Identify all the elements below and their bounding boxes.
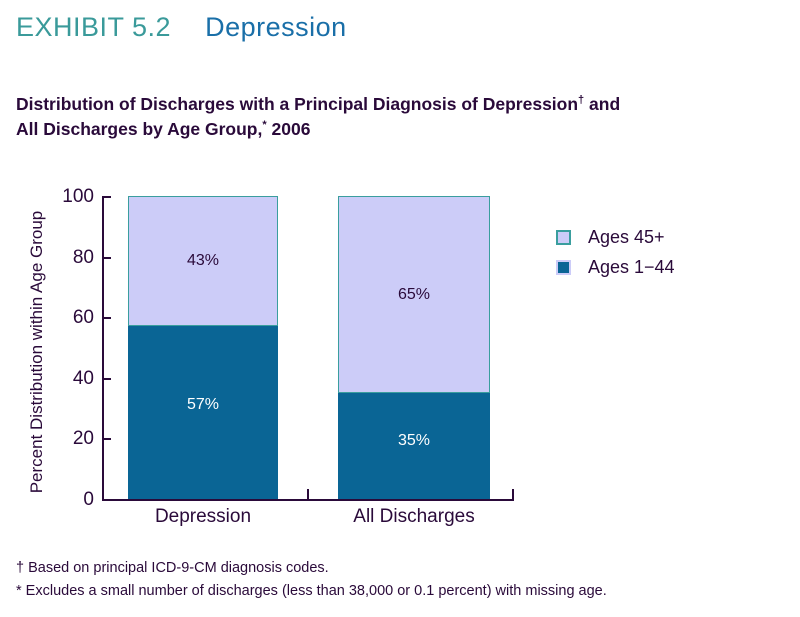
y-tick-label-40: 40 bbox=[32, 368, 94, 390]
y-tick-60 bbox=[102, 317, 111, 319]
y-tick-label-20: 20 bbox=[32, 428, 94, 450]
bar-label-all-discharges-ages-45-plus: 65% bbox=[339, 286, 489, 304]
x-tick-end bbox=[512, 489, 514, 500]
y-tick-label-60: 60 bbox=[32, 307, 94, 329]
bar-group-depression[interactable]: 43% 57% bbox=[128, 196, 278, 499]
y-axis-line bbox=[102, 196, 104, 501]
y-tick-label-0: 0 bbox=[32, 489, 94, 511]
x-category-label-all-discharges: All Discharges bbox=[333, 506, 495, 528]
y-tick-100 bbox=[102, 196, 111, 198]
legend-item-ages-1-44[interactable]: Ages 1−44 bbox=[556, 252, 675, 282]
bar-label-depression-ages-45-plus: 43% bbox=[129, 252, 277, 270]
x-category-label-depression: Depression bbox=[128, 506, 278, 528]
footnote-dagger: † Based on principal ICD-9-CM diagnosis … bbox=[16, 557, 607, 580]
legend-swatch-icon-ages-1-44 bbox=[556, 260, 571, 275]
legend-label-ages-45-plus: Ages 45+ bbox=[588, 227, 665, 248]
y-tick-20 bbox=[102, 438, 111, 440]
y-tick-label-100: 100 bbox=[32, 186, 94, 208]
y-tick-40 bbox=[102, 378, 111, 380]
footnote-asterisk: * Excludes a small number of discharges … bbox=[16, 580, 607, 603]
chart-plot-area: Percent Distribution within Age Group 0 … bbox=[0, 0, 800, 617]
x-tick-middle bbox=[307, 489, 309, 500]
legend-item-ages-45-plus[interactable]: Ages 45+ bbox=[556, 222, 675, 252]
bar-segment-all-discharges-ages-1-44[interactable]: 35% bbox=[338, 393, 490, 499]
legend-swatch-icon-ages-45-plus bbox=[556, 230, 571, 245]
bar-label-all-discharges-ages-1-44: 35% bbox=[338, 432, 490, 450]
bar-segment-depression-ages-45-plus[interactable]: 43% bbox=[128, 196, 278, 326]
bar-segment-all-discharges-ages-45-plus[interactable]: 65% bbox=[338, 196, 490, 393]
bar-label-depression-ages-1-44: 57% bbox=[128, 396, 278, 414]
y-tick-80 bbox=[102, 257, 111, 259]
bar-segment-depression-ages-1-44[interactable]: 57% bbox=[128, 326, 278, 499]
bar-group-all-discharges[interactable]: 65% 35% bbox=[338, 196, 490, 499]
x-tick-start bbox=[102, 489, 104, 500]
y-tick-label-80: 80 bbox=[32, 247, 94, 269]
chart-legend: Ages 45+ Ages 1−44 bbox=[556, 222, 675, 282]
legend-label-ages-1-44: Ages 1−44 bbox=[588, 257, 675, 278]
footnotes: † Based on principal ICD-9-CM diagnosis … bbox=[16, 557, 607, 604]
y-axis-title: Percent Distribution within Age Group bbox=[27, 187, 47, 517]
